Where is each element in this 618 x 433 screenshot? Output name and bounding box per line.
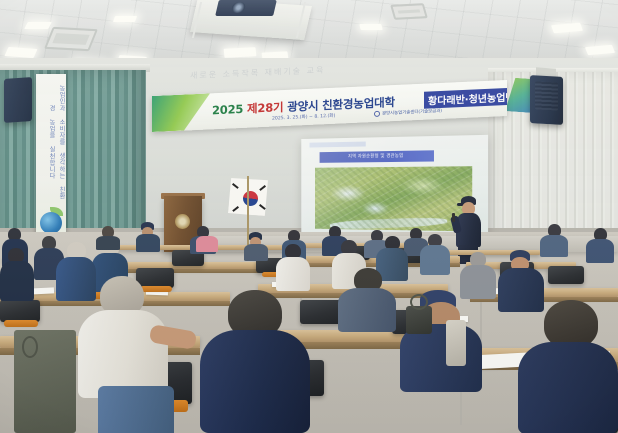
lecture-hall-photo: 농업인과 소비자를 생각하는 친환경 농업을 실천합니다 새로운 소득작목 재배… xyxy=(0,0,618,433)
attendee xyxy=(586,228,614,262)
air-conditioner-vent xyxy=(44,27,98,51)
attendee-torso xyxy=(96,236,120,250)
hanging-bag xyxy=(446,320,466,366)
attendee-torso xyxy=(244,244,268,261)
air-conditioner-vent xyxy=(390,3,428,20)
attendee-torso xyxy=(420,245,450,275)
ceiling-light-panel xyxy=(224,47,257,58)
attendee-torso xyxy=(586,239,614,263)
banner-term: 제28기 xyxy=(247,100,283,116)
globe-icon xyxy=(40,212,62,234)
attendee-jeans xyxy=(98,386,174,433)
attendee-foreground xyxy=(518,300,618,433)
wall-speaker-left xyxy=(4,77,32,123)
attendee-torso xyxy=(0,261,34,301)
attendee xyxy=(540,224,568,256)
chair-back xyxy=(548,266,584,284)
ceiling-projector xyxy=(215,0,277,16)
attendee xyxy=(420,234,450,274)
attendee xyxy=(0,248,34,300)
organizer-logo-icon xyxy=(374,111,380,117)
attendee xyxy=(244,232,268,258)
ceiling-light-panel xyxy=(4,47,37,58)
attendee-torso xyxy=(338,288,396,332)
slide-top-label xyxy=(309,142,365,148)
banner-year: 2025 xyxy=(212,102,243,117)
attendee xyxy=(136,222,160,250)
slide-header-text: 지역 자원순환형 및 경관농업 xyxy=(320,150,434,163)
attendee-torso-navy xyxy=(518,342,618,433)
ceiling-light-panel xyxy=(24,22,52,29)
chair-seat xyxy=(4,320,38,327)
attendee xyxy=(276,244,310,290)
podium-emblem-icon xyxy=(175,214,190,229)
attendee-torso-navy xyxy=(200,330,310,433)
attendee-head xyxy=(544,300,598,348)
attendee-pink-shirt xyxy=(196,230,218,252)
backpack-strap xyxy=(22,336,38,358)
slide-aerial-photo xyxy=(315,166,472,231)
banner-swoosh-graphic xyxy=(152,93,210,132)
vertical-banner: 농업인과 소비자를 생각하는 친환경 농업을 실천합니다 xyxy=(36,74,66,244)
vertical-banner-text: 농업인과 소비자를 생각하는 친환경 농업을 실천합니다 xyxy=(36,82,66,202)
attendee-torso xyxy=(540,235,568,257)
bag-handle xyxy=(410,294,428,310)
ceiling-light-panel xyxy=(359,24,382,30)
attendee-torso xyxy=(136,234,160,252)
wall-speaker-right xyxy=(530,75,563,125)
attendee xyxy=(96,226,120,248)
shoulder-bag xyxy=(406,306,432,334)
chair-back xyxy=(0,300,40,322)
ceiling-light-panel xyxy=(113,16,137,22)
microphone-icon xyxy=(452,213,455,222)
banner-organizer: 광양시농업기술센터(기술보급과) xyxy=(382,108,442,117)
banner-city: 광양시 xyxy=(287,99,318,114)
banner-highlight-label: 황다래반·청년농업반 xyxy=(424,87,507,108)
attendee-torso-white xyxy=(276,257,310,291)
attendee-torso-white xyxy=(78,310,168,398)
attendee-foreground xyxy=(200,290,310,433)
attendee-foreground xyxy=(338,268,396,330)
attendee-torso-navy xyxy=(400,324,482,392)
attendee-torso xyxy=(196,236,218,252)
